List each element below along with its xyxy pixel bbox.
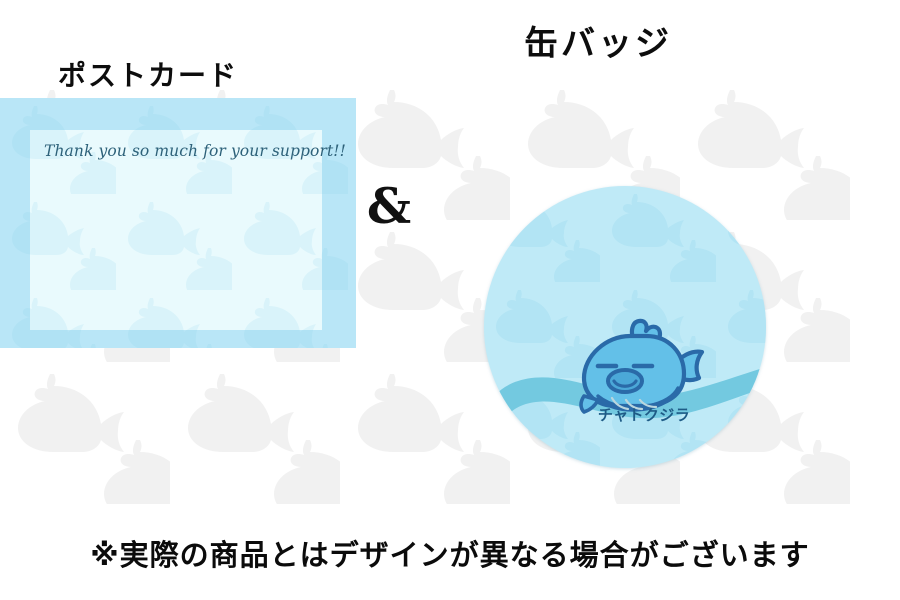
postcard-thank-you-message: Thank you so much for your support!! (44, 142, 344, 160)
postcard-inner-panel (30, 130, 322, 330)
promo-image-canvas: ポストカード 缶バッジ (0, 0, 900, 600)
disclaimer-text: ※実際の商品とはデザインが異なる場合がございます (0, 532, 900, 574)
postcard-product (0, 98, 356, 348)
page-title-badge: 缶バッジ (524, 16, 804, 65)
page-title-postcard: ポストカード (58, 54, 288, 94)
postcard-inner-pattern (30, 130, 322, 330)
character-name-badge: チャトクジラ (582, 404, 706, 425)
can-badge-product: チャトクジラ (484, 186, 766, 468)
separator-ampersand: & (366, 176, 412, 238)
